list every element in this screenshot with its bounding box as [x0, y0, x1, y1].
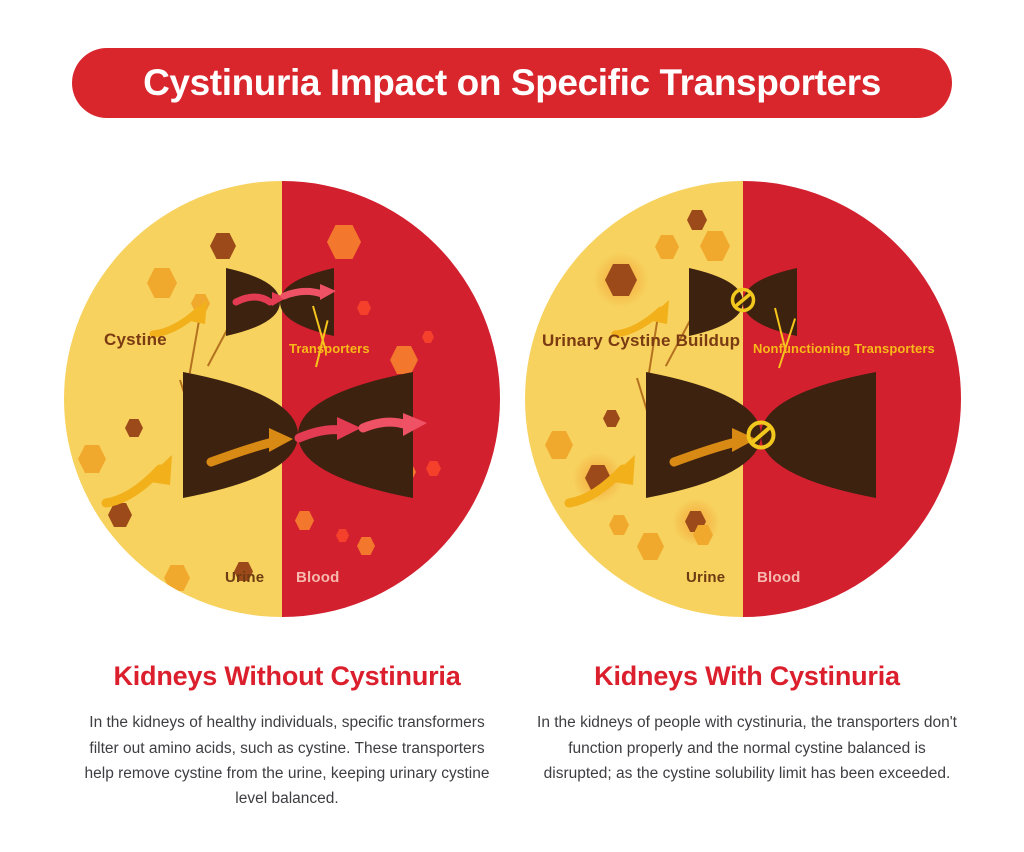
caption-body: In the kidneys of people with cystinuria… [512, 710, 982, 785]
kidney-cross-section-right: Urinary Cystine Buildup Nonfunctioning T… [525, 181, 961, 617]
label-urine: Urine [225, 569, 264, 586]
kidney-cross-section-left: Cystine Transporters Urine Blood [64, 181, 500, 617]
no-entry-icon [728, 285, 758, 315]
flow-arrow-icon [102, 437, 212, 512]
caption-without-cystinuria: Kidneys Without Cystinuria In the kidney… [52, 660, 522, 811]
label-urinary-cystine-buildup: Urinary Cystine Buildup [542, 331, 740, 351]
page-title: Cystinuria Impact on Specific Transporte… [143, 62, 881, 104]
caption-heading: Kidneys Without Cystinuria [52, 660, 522, 692]
flow-arrow-icon [565, 437, 675, 512]
caption-with-cystinuria: Kidneys With Cystinuria In the kidneys o… [512, 660, 982, 786]
diagram-with-cystinuria: Urinary Cystine Buildup Nonfunctioning T… [525, 181, 961, 617]
diagram-without-cystinuria: Cystine Transporters Urine Blood [64, 181, 500, 617]
label-cystine: Cystine [104, 330, 167, 350]
label-nonfunctioning-transporters: Nonfunctioning Transporters [753, 341, 935, 356]
label-blood: Blood [757, 569, 801, 586]
no-entry-icon [743, 417, 779, 453]
caption-heading: Kidneys With Cystinuria [512, 660, 982, 692]
label-blood: Blood [296, 569, 340, 586]
title-banner: Cystinuria Impact on Specific Transporte… [72, 48, 952, 118]
label-urine: Urine [686, 569, 725, 586]
caption-body: In the kidneys of healthy individuals, s… [52, 710, 522, 810]
label-transporters: Transporters [289, 341, 370, 356]
